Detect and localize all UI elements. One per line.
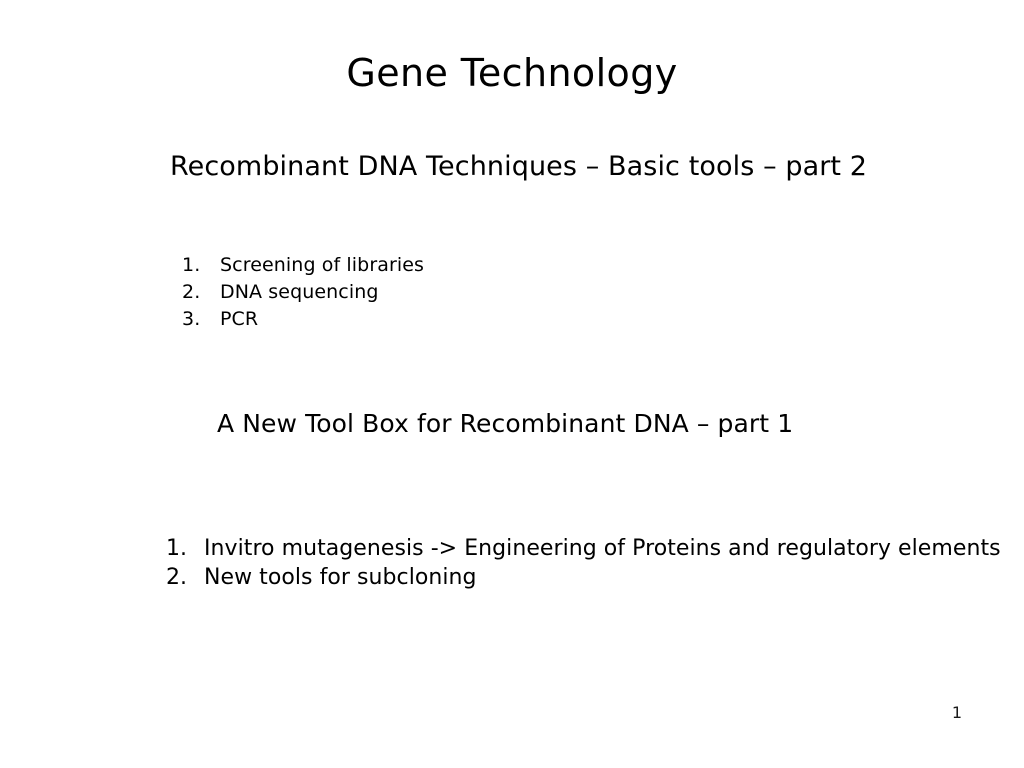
section-heading-new-tool-box: A New Tool Box for Recombinant DNA – par… — [217, 407, 793, 440]
section-heading-basic-tools: Recombinant DNA Techniques – Basic tools… — [170, 150, 867, 184]
list-item-label: DNA sequencing — [220, 279, 379, 306]
list-item: 3. PCR — [182, 306, 424, 333]
list-item: 1. Screening of libraries — [182, 252, 424, 279]
list-item-marker: 2. — [182, 279, 220, 306]
presentation-slide: Gene Technology Recombinant DNA Techniqu… — [0, 0, 1024, 768]
list-new-tool-box: 1. Invitro mutagenesis -> Engineering of… — [126, 534, 1001, 592]
list-item-label: Screening of libraries — [220, 252, 424, 279]
list-item: 1. Invitro mutagenesis -> Engineering of… — [166, 534, 1001, 563]
list-item-marker: 3. — [182, 306, 220, 333]
list-item: 2. DNA sequencing — [182, 279, 424, 306]
list-item: 2. New tools for subcloning — [166, 563, 1001, 592]
list-item-marker: 1. — [182, 252, 220, 279]
list-item-marker: 2. — [166, 563, 204, 592]
slide-title: Gene Technology — [0, 50, 1024, 96]
page-number: 1 — [952, 703, 962, 723]
list-item-label: Invitro mutagenesis -> Engineering of Pr… — [204, 534, 1001, 563]
list-item-marker: 1. — [166, 534, 204, 563]
list-item-label: New tools for subcloning — [204, 563, 477, 592]
list-basic-tools: 1. Screening of libraries 2. DNA sequenc… — [142, 252, 424, 333]
list-item-label: PCR — [220, 306, 258, 333]
